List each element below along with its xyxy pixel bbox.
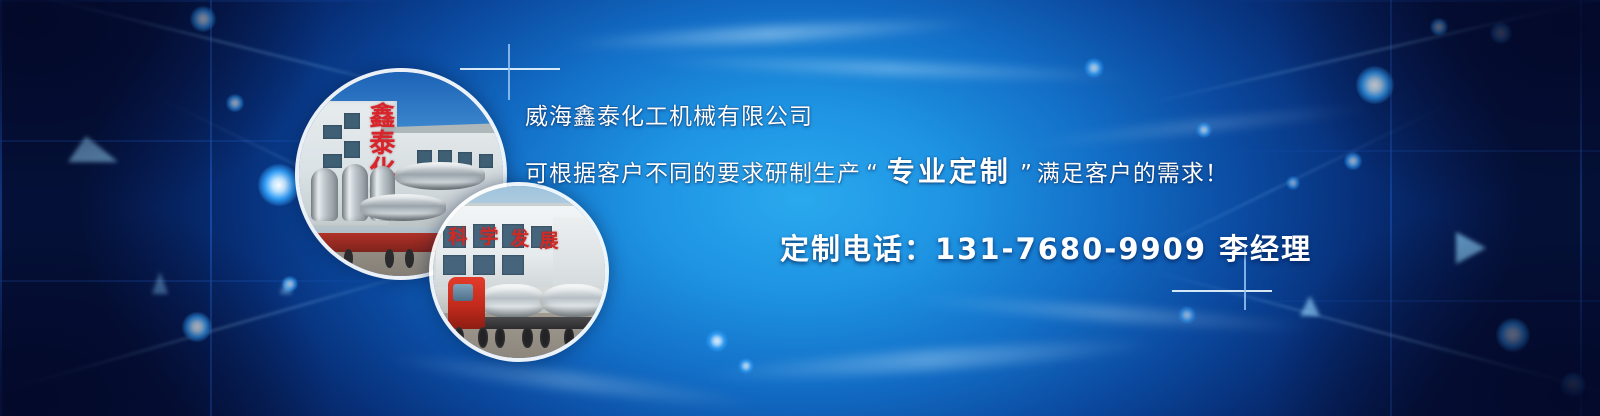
tagline: 可根据客户不同的要求研制生产 “ 专业定制 ” 满足客户的需求！ [525, 150, 1229, 190]
contact-phone-line: 定制电话：131-7680-9909 李经理 [780, 226, 1312, 268]
building-sign-char: 学 [479, 222, 498, 249]
tagline-emphasis: 专业定制 [883, 150, 1015, 190]
building-sign-char: 发 [510, 224, 529, 251]
building-sign-char: 科 [448, 222, 467, 249]
tagline-close-quote: ” [1015, 161, 1037, 187]
tagline-open-quote: “ [861, 161, 883, 187]
tagline-after: 满足客户的需求！ [1037, 154, 1229, 188]
building-sign-char: 展 [540, 226, 559, 253]
promo-banner: 鑫泰化机 科 [0, 0, 1600, 416]
truck-tanks-photo: 科 学 发 展 [429, 182, 609, 362]
tagline-before: 可根据客户不同的要求研制生产 [525, 154, 861, 188]
background-vignette [0, 0, 1600, 416]
company-name: 威海鑫泰化工机械有限公司 [525, 97, 813, 131]
